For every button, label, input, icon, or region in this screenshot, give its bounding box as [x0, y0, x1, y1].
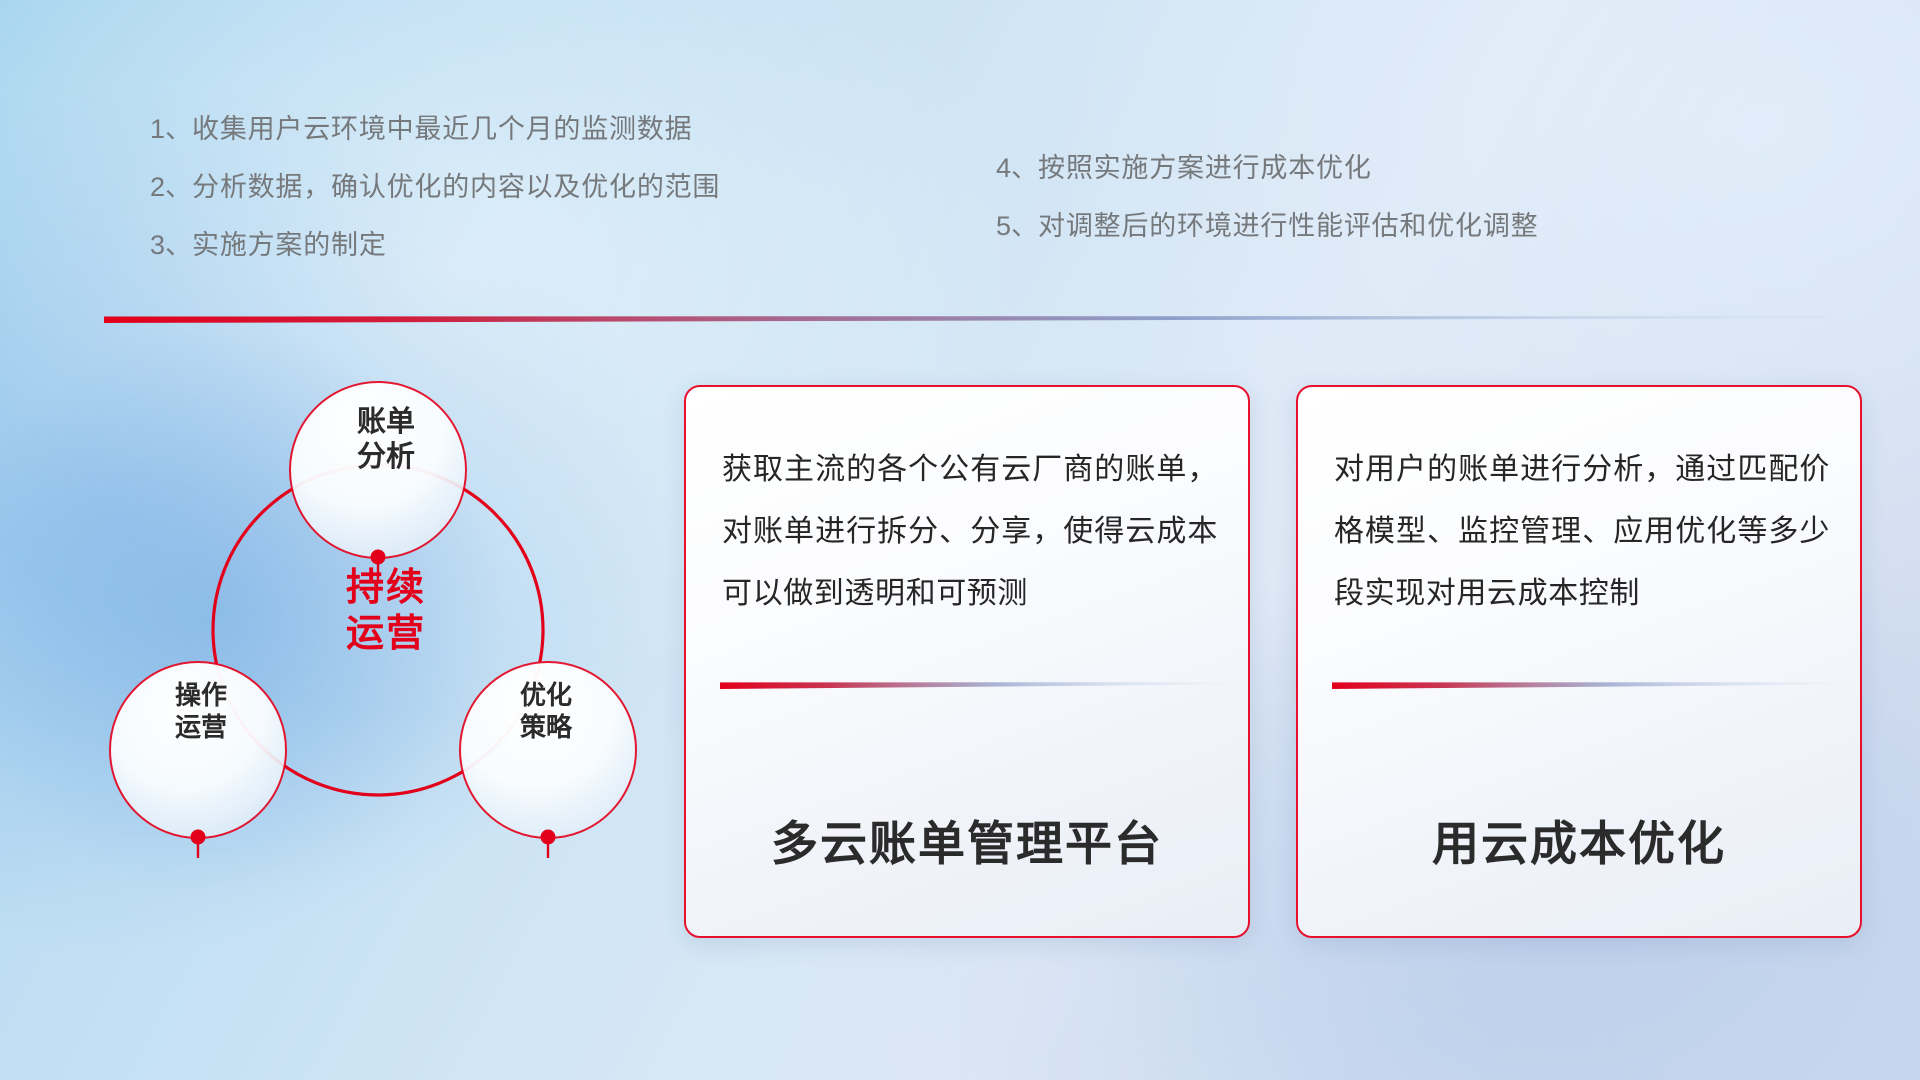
- list-item: 2、分析数据，确认优化的内容以及优化的范围: [150, 174, 720, 201]
- connector-dot-right: [541, 830, 556, 845]
- list-item: 1、收集用户云环境中最近几个月的监测数据: [150, 116, 720, 143]
- connector-dot-left: [191, 830, 206, 845]
- card-title: 用云成本优化: [1298, 805, 1860, 874]
- list-item-number: 3、: [150, 230, 192, 260]
- card-body-text: 对用户的账单进行分析，通过匹配价格模型、监控管理、应用优化等多少段实现对用云成本…: [1334, 439, 1830, 624]
- card-accent-rule: [720, 679, 1224, 690]
- list-item-label: 收集用户云环境中最近几个月的监测数据: [192, 114, 692, 144]
- section-divider: [104, 312, 1830, 324]
- feature-card-multicloud-billing[interactable]: 获取主流的各个公有云厂商的账单，对账单进行拆分、分享，使得云成本可以做到透明和可…: [684, 385, 1250, 938]
- connector-dot-top: [371, 550, 386, 565]
- list-item-number: 2、: [150, 172, 192, 202]
- list-item-number: 4、: [996, 153, 1038, 183]
- list-item-number: 5、: [996, 211, 1038, 241]
- steps-list-left: 1、收集用户云环境中最近几个月的监测数据 2、分析数据，确认优化的内容以及优化的…: [150, 116, 720, 290]
- list-item: 3、实施方案的制定: [150, 232, 720, 259]
- diagram-svg: [96, 350, 656, 950]
- card-accent-rule: [1332, 679, 1836, 690]
- list-item: 5、对调整后的环境进行性能评估和优化调整: [996, 213, 1538, 240]
- slide-canvas: 1、收集用户云环境中最近几个月的监测数据 2、分析数据，确认优化的内容以及优化的…: [0, 0, 1920, 1080]
- list-item-number: 1、: [150, 114, 192, 144]
- card-title: 多云账单管理平台: [686, 805, 1248, 874]
- card-body-text: 获取主流的各个公有云厂商的账单，对账单进行拆分、分享，使得云成本可以做到透明和可…: [722, 439, 1218, 624]
- node-bubble-right: [460, 662, 636, 838]
- list-item-label: 对调整后的环境进行性能评估和优化调整: [1038, 211, 1538, 241]
- node-bubble-top: [290, 382, 466, 558]
- list-item: 4、按照实施方案进行成本优化: [996, 155, 1538, 182]
- node-bubble-left: [110, 662, 286, 838]
- continuous-operations-diagram: 账单 分析 操作 运营 优化 策略 持续 运营: [96, 350, 656, 950]
- list-item-label: 实施方案的制定: [192, 230, 387, 260]
- list-item-label: 按照实施方案进行成本优化: [1038, 153, 1372, 183]
- steps-list-right: 4、按照实施方案进行成本优化 5、对调整后的环境进行性能评估和优化调整: [996, 155, 1538, 271]
- list-item-label: 分析数据，确认优化的内容以及优化的范围: [192, 172, 720, 202]
- feature-card-cloud-cost-optimization[interactable]: 对用户的账单进行分析，通过匹配价格模型、监控管理、应用优化等多少段实现对用云成本…: [1296, 385, 1862, 938]
